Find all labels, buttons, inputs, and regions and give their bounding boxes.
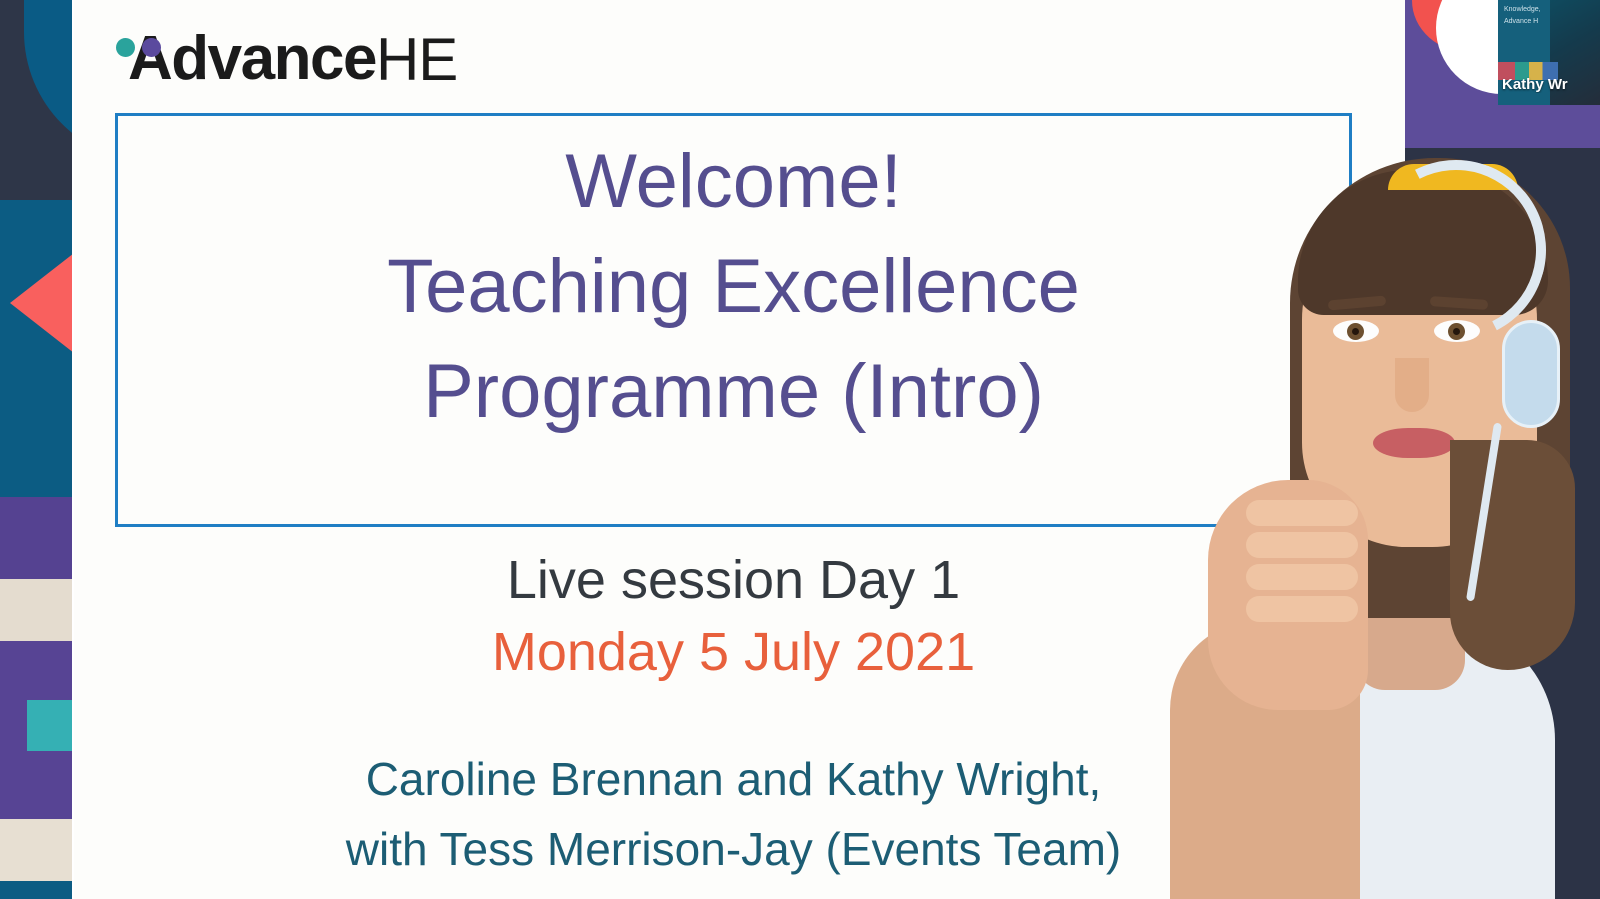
decor-band-teal-mid [0, 445, 72, 497]
decor-band-beige-upper [0, 579, 72, 641]
logo-dot-purple-icon [142, 38, 161, 57]
speaker-lips [1373, 428, 1455, 458]
speaker-iris-left [1347, 323, 1364, 340]
decor-band-navy [0, 0, 72, 200]
slide-title-line-2: Teaching Excellence [387, 235, 1080, 340]
decor-square-icon [27, 700, 72, 751]
thumbnail-slide-text-2: Advance H [1504, 18, 1538, 25]
slide-title-line-3: Programme (Intro) [423, 340, 1044, 445]
thumbnail-slide-text-1: Knowledge, [1504, 6, 1541, 13]
logo-word-he: HE [376, 30, 457, 90]
speaker-finger-2 [1246, 532, 1358, 558]
speaker-eye-left [1333, 320, 1379, 342]
speaker-finger-1 [1246, 500, 1358, 526]
decor-band-beige-lower [0, 819, 72, 881]
video-call-overlay: Knowledge, Advance H Kathy Wr [1150, 0, 1600, 899]
logo-dots-icon [116, 38, 174, 60]
decor-band-purple-upper [0, 497, 72, 579]
participant-name-label: Kathy Wr [1498, 76, 1600, 93]
slide-title-line-1: Welcome! [565, 130, 901, 235]
left-decorative-stripe [0, 0, 72, 899]
headphone-earcup-icon [1502, 320, 1560, 428]
decor-quarter-circle-icon [24, 0, 72, 162]
active-speaker-video[interactable] [1150, 150, 1600, 899]
speaker-finger-3 [1246, 564, 1358, 590]
logo-dot-teal-icon [116, 38, 135, 57]
decor-band-teal-bottom [0, 881, 72, 899]
decor-triangle-icon [10, 253, 72, 353]
speaker-finger-4 [1246, 596, 1358, 622]
speaker-hair-strand [1450, 440, 1575, 670]
speaker-eye-right [1434, 320, 1480, 342]
speaker-nose [1395, 358, 1429, 412]
screen-root: Advance HE Welcome! Teaching Excellence … [0, 0, 1600, 899]
speaker-iris-right [1448, 323, 1465, 340]
advance-he-logo: Advance HE [114, 28, 457, 90]
participant-thumbnail-tile[interactable]: Knowledge, Advance H Kathy Wr [1498, 0, 1600, 105]
